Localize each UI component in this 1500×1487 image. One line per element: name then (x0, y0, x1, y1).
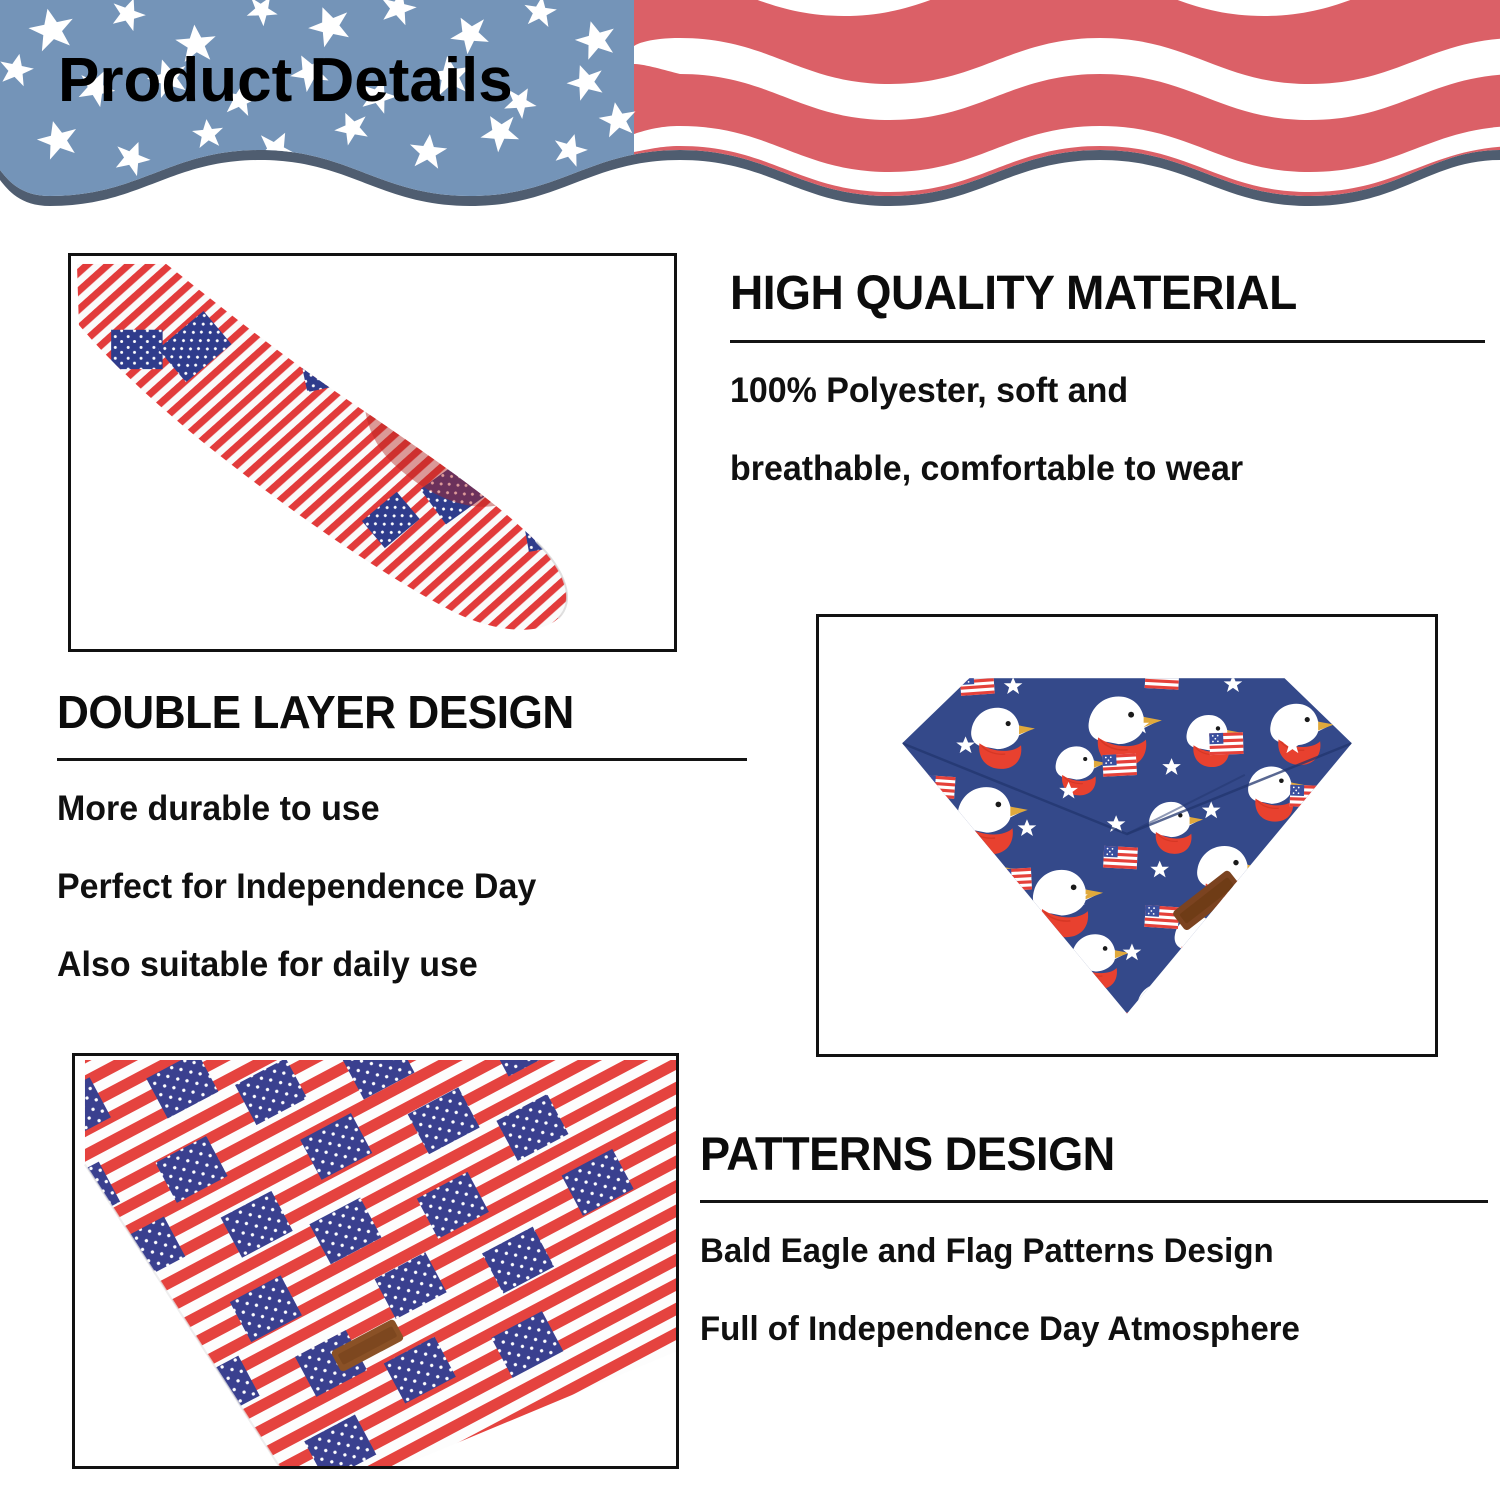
page-title: Product Details (58, 48, 513, 114)
body-line: 100% Polyester, soft and (730, 371, 1462, 411)
body-line: Perfect for Independence Day (57, 867, 726, 907)
section-divider (57, 758, 747, 761)
section-patterns-design: PATTERNS DESIGN Bald Eagle and Flag Patt… (700, 1128, 1488, 1349)
section-high-quality-material: HIGH QUALITY MATERIAL 100% Polyester, so… (730, 268, 1485, 489)
section-heading: HIGH QUALITY MATERIAL (730, 268, 1455, 320)
section-heading: PATTERNS DESIGN (700, 1128, 1456, 1180)
section-divider (700, 1200, 1488, 1203)
product-photo-eagle-bandana[interactable] (816, 614, 1438, 1057)
product-photo-rolled-flag-bandana[interactable] (68, 253, 677, 652)
section-divider (730, 340, 1485, 343)
flat-flag-bandana-image (75, 1056, 676, 1466)
body-line: Full of Independence Day Atmosphere (700, 1309, 1464, 1349)
section-body: 100% Polyester, soft and breathable, com… (730, 371, 1485, 489)
rolled-flag-bandana-image (71, 256, 674, 649)
body-line: breathable, comfortable to wear (730, 449, 1462, 489)
section-double-layer-design: DOUBLE LAYER DESIGN More durable to use … (57, 686, 747, 985)
section-body: Bald Eagle and Flag Patterns Design Full… (700, 1231, 1488, 1349)
section-body: More durable to use Perfect for Independ… (57, 789, 747, 985)
eagle-bandana-image (819, 617, 1435, 1054)
flag-banner-header: Product Details (0, 0, 1500, 215)
section-heading: DOUBLE LAYER DESIGN (57, 686, 719, 738)
product-details-page: Product Details (0, 0, 1500, 1487)
body-line: Bald Eagle and Flag Patterns Design (700, 1231, 1464, 1271)
product-photo-flat-flag-bandana[interactable] (72, 1053, 679, 1469)
body-line: More durable to use (57, 789, 726, 829)
body-line: Also suitable for daily use (57, 945, 726, 985)
